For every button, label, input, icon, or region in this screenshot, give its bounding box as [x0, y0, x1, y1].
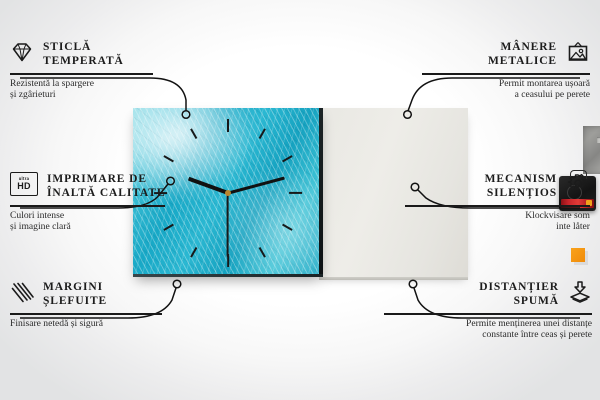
feature-sub-line2: constante între ceas și perete	[482, 329, 592, 340]
hand-center-cap	[225, 190, 231, 196]
callout-rule	[10, 73, 153, 75]
feature-title-line2: ÎNALTĂ CALITATE	[47, 187, 165, 199]
feature-sub-line1: Culori intense	[10, 210, 64, 221]
callout-subtitle: Culori intense și imagine clară	[10, 210, 210, 233]
glass-bottom-edge	[133, 274, 323, 277]
callout-subtitle: Finisare netedă și sigură	[10, 318, 200, 330]
feature-title-line1: DISTANȚIER	[479, 281, 559, 293]
ultra-hd-large-label: HD	[17, 182, 30, 191]
feature-sub-line2: și zgârieturi	[10, 89, 56, 100]
callout-metal-handles[interactable]: MÂNERE METALICE Permit montarea ușoară a…	[400, 40, 590, 101]
second-hand	[227, 193, 229, 257]
feature-sub-line2: a ceasului pe perete	[515, 89, 590, 100]
callout-polished-edges[interactable]: MARGINI ȘLEFUITE Finisare netedă și sigu…	[10, 280, 200, 329]
feature-title-line1: MARGINI	[43, 281, 103, 293]
metal-hanger-plate	[583, 126, 600, 174]
callout-rule	[405, 205, 590, 207]
callout-head: MECANISM SILENȚIOS	[400, 172, 590, 200]
callout-head: MARGINI ȘLEFUITE	[10, 280, 200, 308]
feature-sub-line1: Permit montarea ușoară	[499, 78, 590, 89]
ultra-hd-icon: ultra HD	[10, 172, 38, 196]
feature-title-line2: ȘLEFUITE	[43, 295, 107, 307]
callout-head: DISTANȚIER SPUMĂ	[377, 280, 592, 308]
callout-rule	[422, 73, 590, 75]
callout-subtitle: Permit montarea ușoară a ceasului pe per…	[400, 78, 590, 101]
callout-high-quality-print[interactable]: ultra HD IMPRIMARE DE ÎNALTĂ CALITATE Cu…	[10, 172, 210, 233]
diamond-icon	[10, 40, 34, 64]
callout-rule	[10, 205, 165, 207]
callout-head: ultra HD IMPRIMARE DE ÎNALTĂ CALITATE	[10, 172, 210, 200]
foam-spacer-pad	[571, 248, 585, 262]
callout-silent-mechanism[interactable]: MECANISM SILENȚIOS Klockvisare som inte …	[400, 172, 590, 233]
feature-title-line1: MECANISM	[485, 173, 557, 185]
callout-tempered-glass[interactable]: STICLĂ TEMPERATĂ Rezistentă la spargere …	[10, 40, 195, 101]
feature-sub-line2: inte låter	[556, 221, 590, 232]
callout-subtitle: Klockvisare som inte låter	[400, 210, 590, 233]
feature-sub-line1: Finisare netedă și sigură	[10, 318, 103, 329]
feature-title-line2: SPUMĂ	[514, 295, 559, 307]
feature-sub-line2: și imagine clară	[10, 221, 71, 232]
glass-right-edge	[319, 108, 323, 277]
feature-title-line2: METALICE	[488, 55, 557, 67]
diagonal-lines-icon	[10, 280, 34, 304]
callout-rule	[384, 313, 592, 315]
callout-head: MÂNERE METALICE	[400, 40, 590, 68]
infographic-canvas: STICLĂ TEMPERATĂ Rezistentă la spargere …	[0, 0, 600, 400]
feature-sub-line1: Klockvisare som	[525, 210, 590, 221]
callout-head: STICLĂ TEMPERATĂ	[10, 40, 195, 68]
callout-subtitle: Rezistentă la spargere și zgârieturi	[10, 78, 195, 101]
feature-sub-line1: Rezistentă la spargere	[10, 78, 94, 89]
gear-icon	[566, 172, 590, 196]
picture-frame-icon	[566, 40, 590, 64]
feature-title-line1: MÂNERE	[500, 41, 557, 53]
feature-title-line2: SILENȚIOS	[487, 187, 557, 199]
feature-title-line1: IMPRIMARE DE	[47, 173, 147, 185]
callout-subtitle: Permite menținerea unei distanțe constan…	[377, 318, 592, 341]
feature-title-line2: TEMPERATĂ	[43, 55, 124, 67]
feature-sub-line1: Permite menținerea unei distanțe	[466, 318, 592, 329]
callout-rule	[10, 313, 162, 315]
arrow-onto-stack-icon	[568, 280, 592, 304]
feature-title-line1: STICLĂ	[43, 41, 91, 53]
callout-foam-spacer[interactable]: DISTANȚIER SPUMĂ Permite menținerea unei…	[377, 280, 592, 341]
